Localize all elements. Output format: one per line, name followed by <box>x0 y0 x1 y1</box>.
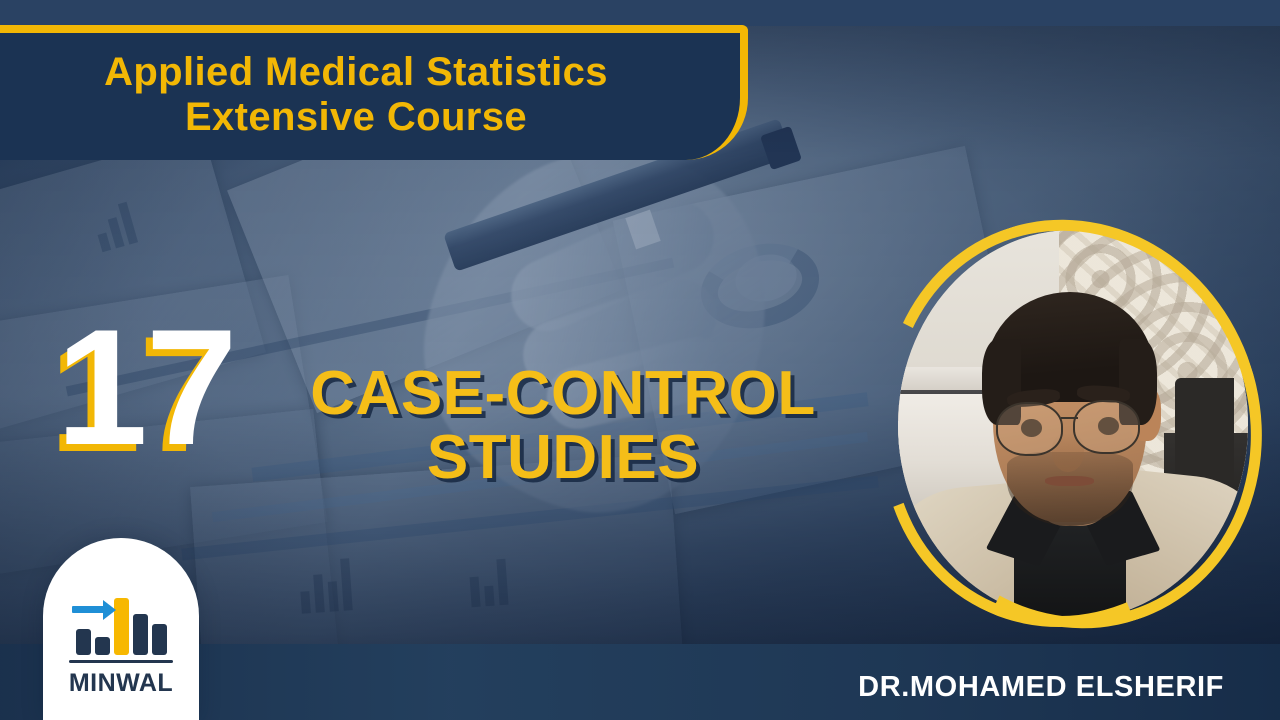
episode-title: CASE-CONTROL STUDIES <box>272 362 854 491</box>
course-title-banner: Applied Medical Statistics Extensive Cou… <box>0 25 748 160</box>
logo-bar-4 <box>133 614 148 655</box>
episode-title-line-2: STUDIES <box>272 426 854 490</box>
video-thumbnail-slide: Applied Medical Statistics Extensive Cou… <box>0 0 1280 720</box>
brand-logo: MINWAL <box>43 538 199 720</box>
course-title-line-1: Applied Medical Statistics <box>104 50 608 95</box>
presenter-name: DR.MOHAMED ELSHERIF <box>858 671 1224 704</box>
presenter-portrait <box>880 206 1272 646</box>
logo-bar-1 <box>76 629 91 655</box>
logo-divider <box>69 660 173 663</box>
episode-number: 17 <box>56 305 236 470</box>
arrow-right-icon <box>72 603 118 616</box>
arrow-head <box>103 600 116 620</box>
logo-bar-2 <box>95 637 110 655</box>
logo-bar-5 <box>152 624 167 655</box>
episode-title-line-1: CASE-CONTROL <box>272 362 854 426</box>
top-bar <box>0 0 1280 26</box>
course-title-line-2: Extensive Course <box>185 95 527 140</box>
bar-chart-arrow-icon <box>68 593 174 655</box>
arrow-shaft <box>72 606 104 613</box>
logo-brand-text: MINWAL <box>69 669 173 698</box>
